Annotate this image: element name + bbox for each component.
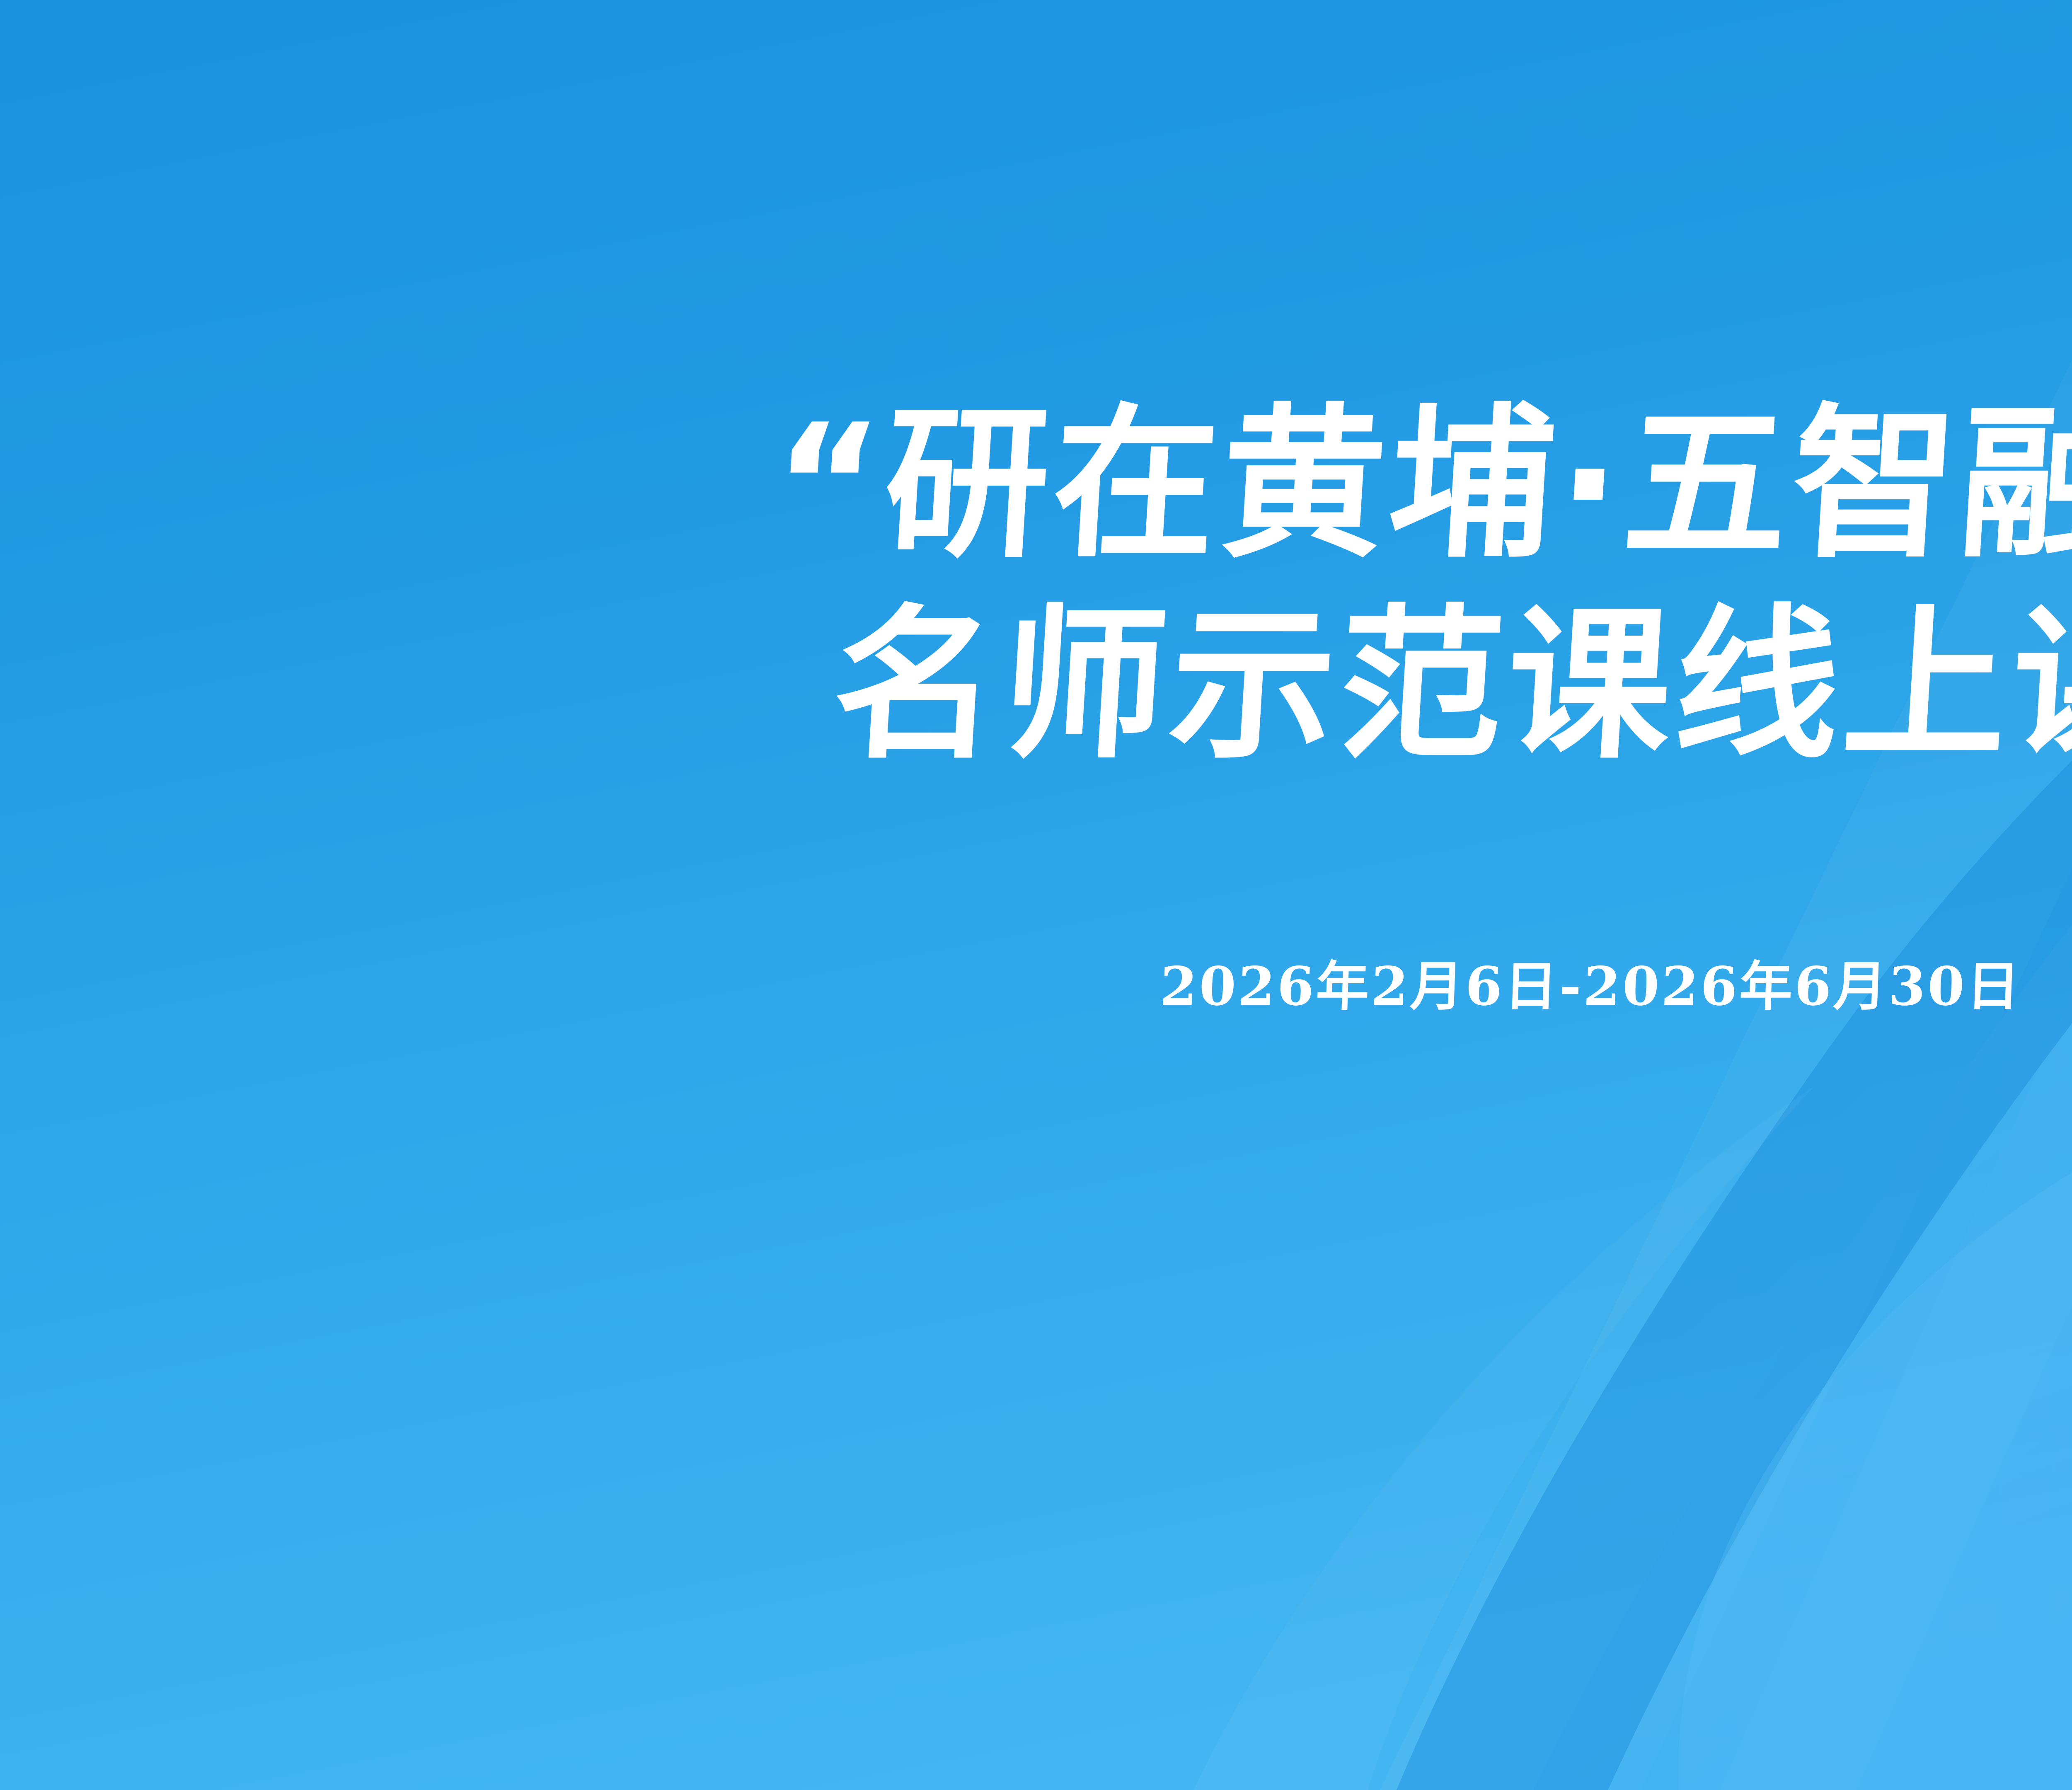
poster-title-line-1: “研在黄埔·五智融合” bbox=[767, 389, 2072, 580]
poster-title-line-2: 名师示范课线上课程 bbox=[828, 590, 2072, 781]
poster-canvas: “研在黄埔·五智融合” 名师示范课线上课程 2026年2月6日-2026年6月3… bbox=[0, 0, 2072, 1790]
poster-date-range: 2026年2月6日-2026年6月30日 bbox=[1159, 943, 2023, 1020]
title-block: “研在黄埔·五智融合” 名师示范课线上课程 bbox=[0, 389, 2072, 781]
poster-content: “研在黄埔·五智融合” 名师示范课线上课程 2026年2月6日-2026年6月3… bbox=[0, 0, 2072, 1790]
